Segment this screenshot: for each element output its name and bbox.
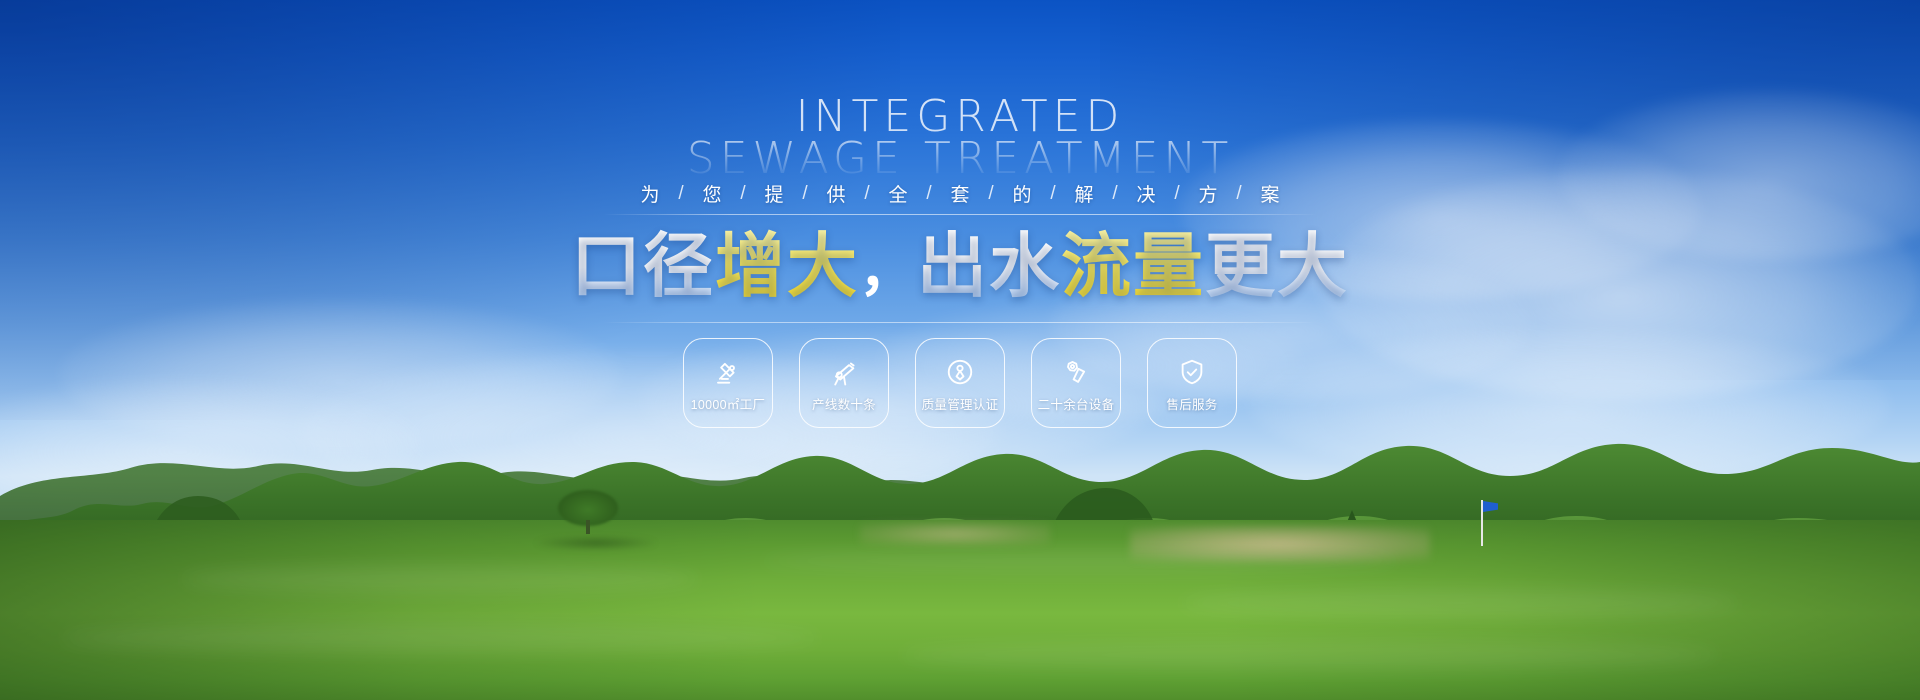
tagline-separator: / xyxy=(791,183,819,205)
tagline-separator: / xyxy=(977,183,1005,205)
headline-segment-white: 更大 xyxy=(1205,225,1349,307)
tagline-char: 案 xyxy=(1253,180,1287,207)
headline-segment-yellow: 流量 xyxy=(1061,225,1205,307)
tagline-char: 提 xyxy=(757,180,791,207)
feature-badge-1[interactable]: 10000㎡工厂 xyxy=(683,338,773,428)
tagline-separator: / xyxy=(1039,183,1067,205)
tagline-char: 决 xyxy=(1129,180,1163,207)
tagline-char: 供 xyxy=(819,180,853,207)
tagline-char: 解 xyxy=(1067,180,1101,207)
tagline-separator: / xyxy=(1225,183,1253,205)
english-headline-line-1: INTEGRATED xyxy=(490,96,1430,138)
person-badge-icon xyxy=(945,357,975,387)
hero-banner: INTEGRATED SEWAGE TREATMENT 为/您/提/供/全/套/… xyxy=(0,0,1920,700)
feature-badge-3[interactable]: 质量管理认证 xyxy=(915,338,1005,428)
shield-check-icon xyxy=(1177,357,1207,387)
feature-badge-label: 10000㎡工厂 xyxy=(691,394,766,413)
tagline-separator: / xyxy=(667,183,695,205)
tagline-char: 为 xyxy=(633,180,667,207)
english-headline-line-2: SEWAGE TREATMENT xyxy=(490,138,1430,180)
tagline-separator: / xyxy=(915,183,943,205)
feature-badge-5[interactable]: 售后服务 xyxy=(1147,338,1237,428)
tagline-separator: / xyxy=(1101,183,1129,205)
divider-top xyxy=(603,214,1317,215)
feature-badge-label: 售后服务 xyxy=(1166,394,1217,413)
main-headline: 口径增大，出水流量更大 xyxy=(571,228,1349,305)
tagline-char: 套 xyxy=(943,180,977,207)
banner-content: INTEGRATED SEWAGE TREATMENT 为/您/提/供/全/套/… xyxy=(0,0,1920,700)
divider-bottom xyxy=(603,322,1317,323)
feature-badge-label: 质量管理认证 xyxy=(922,394,999,413)
telescope-icon xyxy=(829,357,859,387)
feature-badge-4[interactable]: 二十余台设备 xyxy=(1031,338,1121,428)
headline-segment-yellow: 增大 xyxy=(715,225,859,307)
headline-comma: ， xyxy=(859,239,917,304)
tagline-char: 的 xyxy=(1005,180,1039,207)
bolt-wrench-icon xyxy=(1061,357,1091,387)
tagline-char: 您 xyxy=(695,180,729,207)
tagline-separator: / xyxy=(1163,183,1191,205)
headline-segment-white: 出水 xyxy=(917,225,1061,307)
microscope-icon xyxy=(713,357,743,387)
tagline-char: 方 xyxy=(1191,180,1225,207)
feature-badge-2[interactable]: 产线数十条 xyxy=(799,338,889,428)
tagline: 为/您/提/供/全/套/的/解/决/方/案 xyxy=(633,180,1287,207)
feature-badge-list: 10000㎡工厂产线数十条质量管理认证二十余台设备售后服务 xyxy=(683,338,1237,428)
tagline-char: 全 xyxy=(881,180,915,207)
english-headline-block: INTEGRATED SEWAGE TREATMENT xyxy=(490,96,1430,180)
tagline-separator: / xyxy=(853,183,881,205)
tagline-separator: / xyxy=(729,183,757,205)
feature-badge-label: 二十余台设备 xyxy=(1038,394,1115,413)
headline-segment-white: 口径 xyxy=(571,225,715,307)
feature-badge-label: 产线数十条 xyxy=(812,394,876,413)
